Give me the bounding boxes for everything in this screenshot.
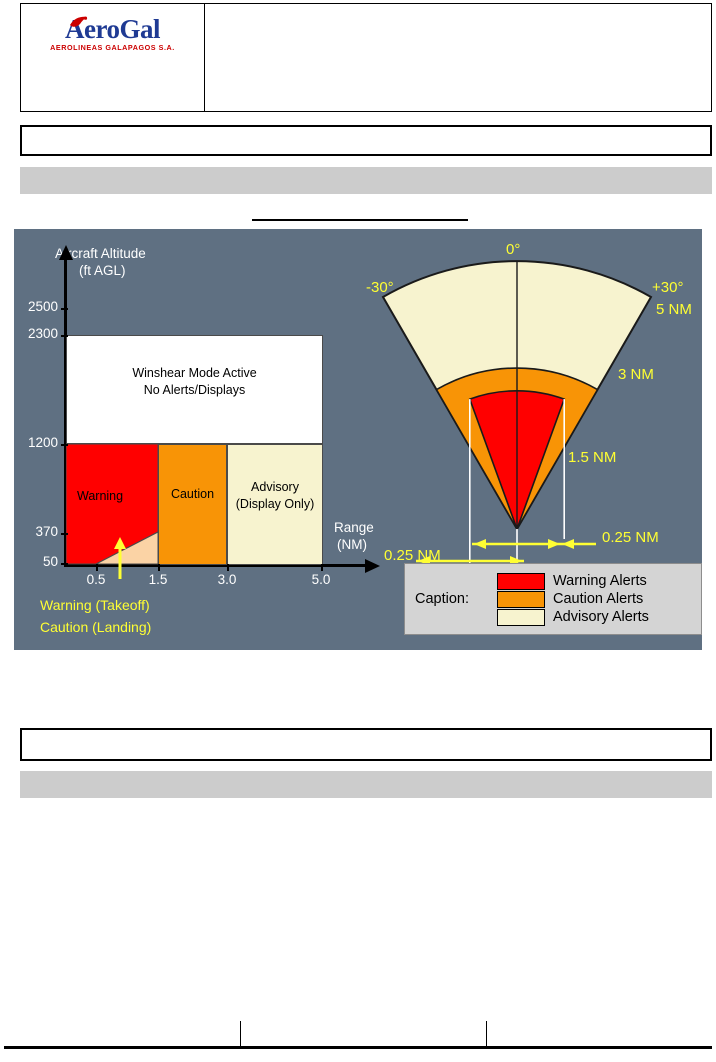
advisory-zone: Advisory (Display Only) (227, 444, 323, 565)
range-label-1-5nm: 1.5 NM (568, 449, 616, 466)
section-bar-3-text (22, 730, 710, 736)
no-alert-line1: Winshear Mode Active (67, 366, 322, 381)
page: AeroGal AEROLINEAS GALAPAGOS S.A. Aircra… (0, 0, 716, 1062)
x-tick-label-1-5: 1.5 (138, 573, 178, 587)
dimension-right-0-25nm (472, 539, 596, 549)
logo-brand-text: AeroGal (45, 14, 181, 44)
advisory-zone-label-line2: (Display Only) (228, 497, 322, 512)
legend-label-caution: Caution Alerts (553, 591, 643, 608)
x-tick-label-3-0: 3.0 (207, 573, 247, 587)
bird-icon (69, 16, 89, 30)
header-title-text (205, 4, 711, 10)
range-label-5nm: 5 NM (656, 301, 692, 318)
y-tick-50 (61, 563, 68, 565)
alert-sector-diagram (344, 239, 702, 579)
legend-swatch-caution (497, 591, 545, 608)
section-bar-2-text (20, 167, 712, 173)
aerogal-logo: AeroGal AEROLINEAS GALAPAGOS S.A. (45, 14, 181, 58)
callout-line1: Warning (Takeoff) (40, 597, 150, 613)
caution-zone-label: Caution (159, 487, 226, 502)
legend-item-caution: Caution Alerts (497, 591, 649, 608)
section-bar-4-text (20, 771, 712, 777)
x-tick-5-0 (321, 564, 323, 571)
y-tick-label-1200: 1200 (14, 436, 58, 450)
y-tick-label-370: 370 (14, 525, 58, 539)
legend-label-advisory: Advisory Alerts (553, 609, 649, 626)
x-tick-3-0 (227, 564, 229, 571)
header-table: AeroGal AEROLINEAS GALAPAGOS S.A. (20, 3, 712, 112)
legend-item-advisory: Advisory Alerts (497, 609, 649, 626)
angle-label-center: 0° (506, 241, 520, 258)
offset-label-right: 0.25 NM (602, 529, 659, 546)
footer-divider-2 (486, 1021, 487, 1047)
x-tick-1-5 (158, 564, 160, 571)
range-label-3nm: 3 NM (618, 366, 654, 383)
legend-swatch-warning (497, 573, 545, 590)
y-axis-label-line2: (ft AGL) (79, 263, 126, 278)
logo-tagline-text: AEROLINEAS GALAPAGOS S.A. (45, 43, 181, 52)
footer-divider-1 (240, 1021, 241, 1047)
footer-rule (4, 1046, 712, 1049)
y-tick-label-50: 50 (14, 555, 58, 569)
y-tick-2300 (61, 335, 68, 337)
callout-line2: Caution (Landing) (40, 619, 151, 635)
y-tick-1200 (61, 444, 68, 446)
caution-zone: Caution (158, 444, 227, 565)
angle-label-right: +30° (652, 279, 683, 296)
y-tick-label-2500: 2500 (14, 300, 58, 314)
warning-zone-label: Warning (77, 489, 123, 503)
legend-rows: Warning Alerts Caution Alerts Advisory A… (497, 573, 649, 626)
header-logo-cell: AeroGal AEROLINEAS GALAPAGOS S.A. (21, 4, 205, 111)
x-tick-0-5 (96, 564, 98, 571)
alert-legend: Caption: Warning Alerts Caution Alerts A… (404, 563, 702, 635)
section-bar-3 (20, 728, 712, 761)
legend-item-warning: Warning Alerts (497, 573, 649, 590)
no-alert-line2: No Alerts/Displays (67, 383, 322, 398)
offset-label-left: 0.25 NM (384, 547, 441, 564)
legend-label-warning: Warning Alerts (553, 573, 647, 590)
legend-caption: Caption: (415, 591, 469, 607)
header-title-cell (205, 4, 711, 111)
section-bar-4 (20, 771, 712, 798)
section-bar-2 (20, 167, 712, 194)
advisory-zone-label-line1: Advisory (228, 480, 322, 495)
legend-swatch-advisory (497, 609, 545, 626)
y-tick-label-2300: 2300 (14, 327, 58, 341)
x-tick-label-5-0: 5.0 (301, 573, 341, 587)
angle-label-left: -30° (366, 279, 394, 296)
no-alert-region: Winshear Mode Active No Alerts/Displays (66, 335, 323, 444)
y-tick-2500 (61, 308, 68, 310)
section-bar-1 (20, 125, 712, 156)
figure-title (252, 209, 468, 221)
callout-arrow-icon (112, 537, 128, 579)
y-axis-arrow-icon (58, 245, 74, 261)
y-tick-370 (61, 533, 68, 535)
section-bar-1-text (22, 127, 710, 133)
x-tick-label-0-5: 0.5 (76, 573, 116, 587)
